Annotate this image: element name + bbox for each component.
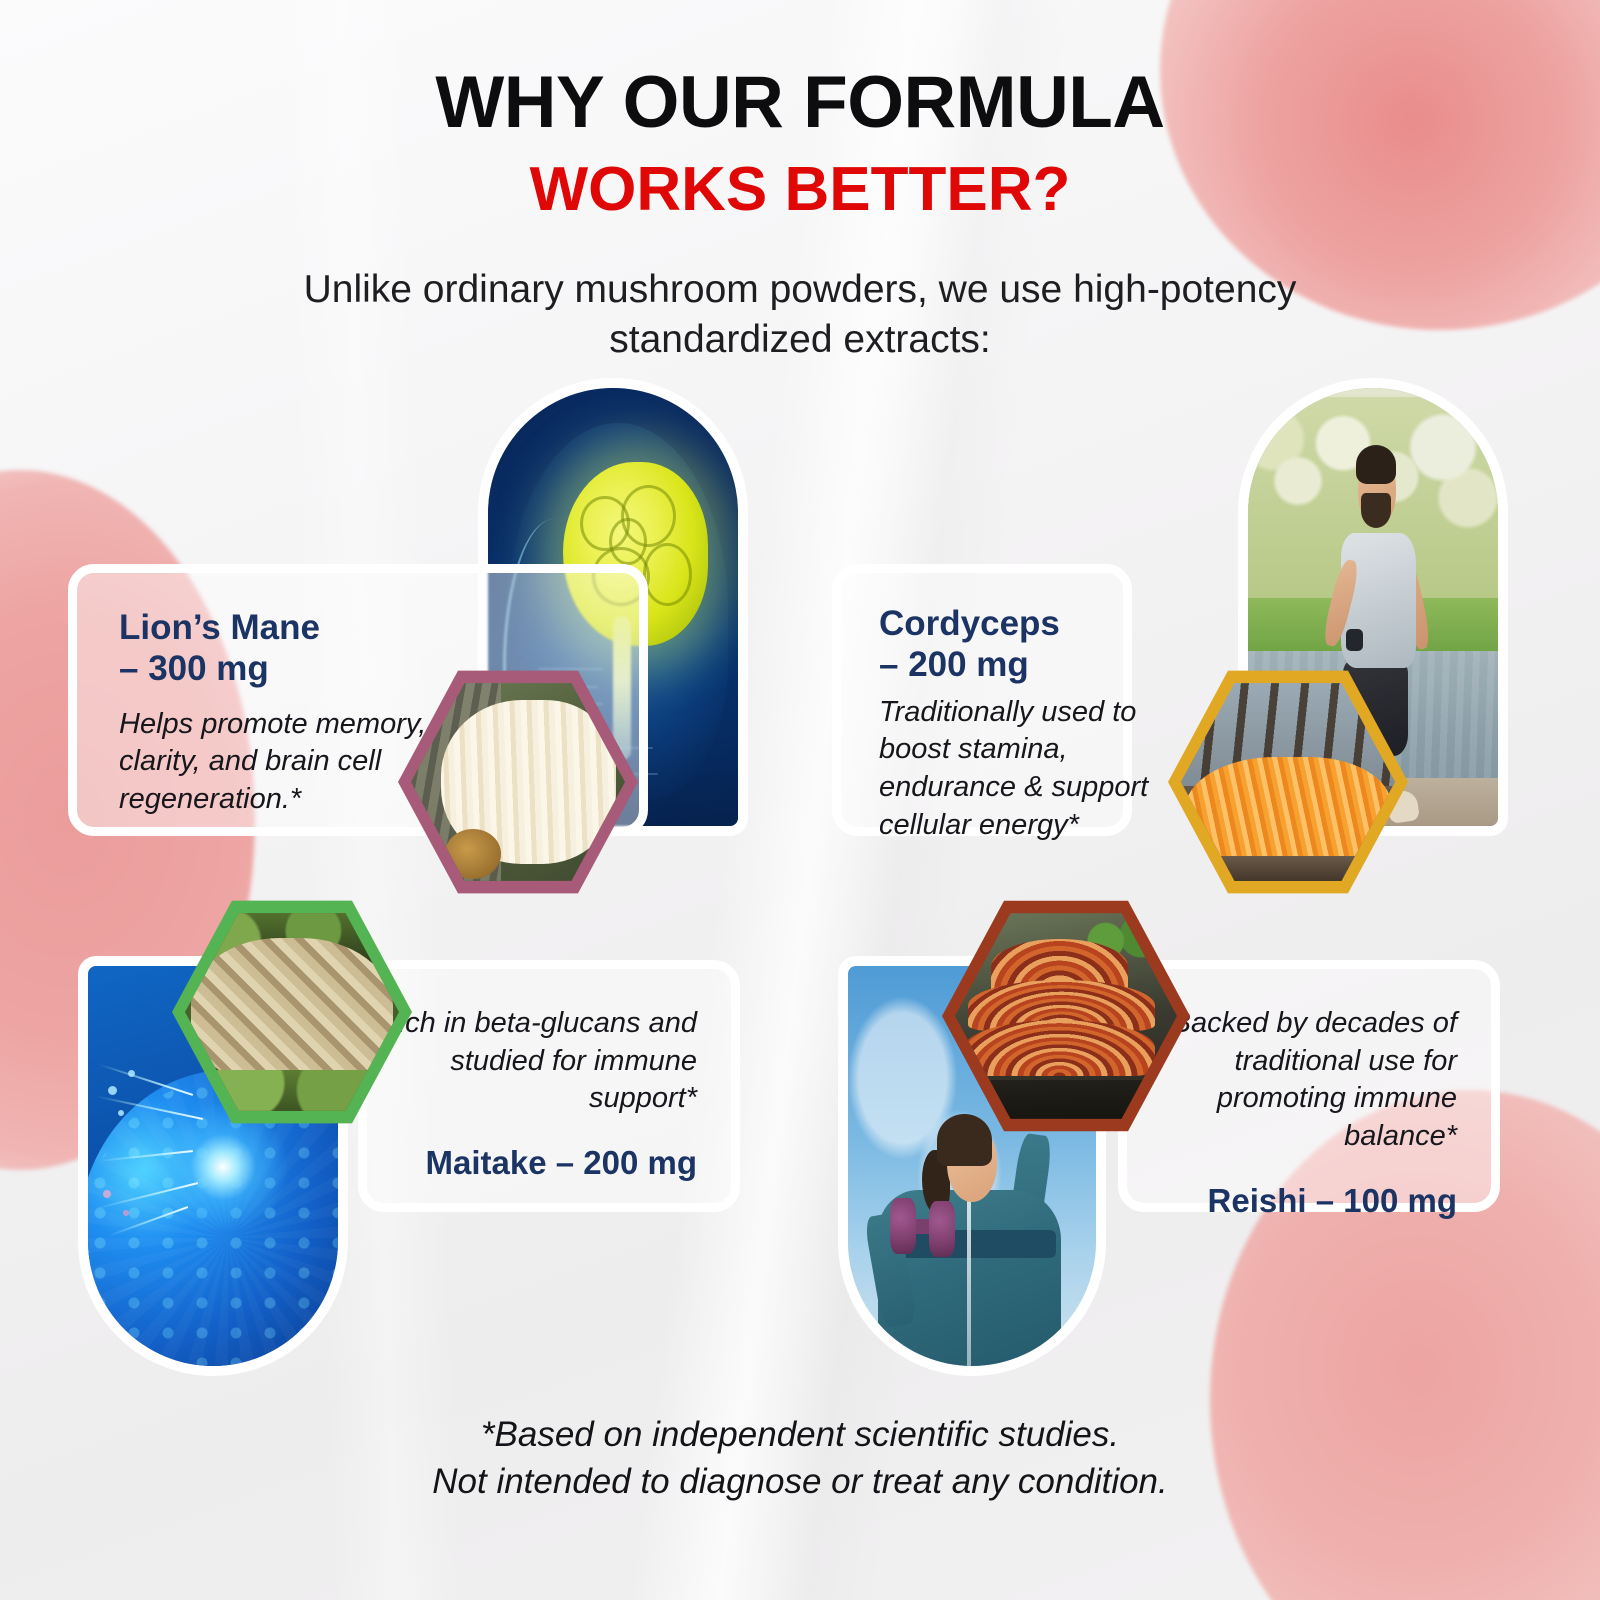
cordyceps-hexagon-photo	[1181, 679, 1395, 885]
cordyceps-description: Traditionally used to boost stamina, end…	[879, 694, 1199, 845]
subheadline-block: Unlike ordinary mushroom powders, we use…	[180, 265, 1420, 365]
reishi-title: Reishi – 100 mg	[1127, 1182, 1457, 1220]
subheadline-line-2: standardized extracts:	[180, 315, 1420, 365]
maitake-description: Rich in beta-glucans and studied for imm…	[367, 1005, 697, 1118]
cordyceps-title: Cordyceps – 200 mg	[879, 603, 1123, 686]
headline-line-2: WORKS BETTER?	[0, 159, 1600, 221]
cordyceps-card: Cordyceps – 200 mg Traditionally used to…	[832, 564, 1132, 836]
reishi-hexagon-photo	[955, 909, 1177, 1123]
subheadline-line-1: Unlike ordinary mushroom powders, we use…	[180, 265, 1420, 315]
maitake-hexagon-photo	[185, 909, 399, 1115]
infographic-page: WHY OUR FORMULA WORKS BETTER? Unlike ord…	[0, 0, 1600, 1600]
dumbbell-icon	[890, 1198, 954, 1254]
headline-line-1: WHY OUR FORMULA	[0, 66, 1600, 139]
headline-block: WHY OUR FORMULA WORKS BETTER?	[0, 0, 1600, 221]
lions-mane-description: Helps promote memory, clarity, and brain…	[119, 706, 439, 819]
maitake-card: Rich in beta-glucans and studied for imm…	[358, 960, 740, 1212]
maitake-hexagon	[172, 896, 412, 1128]
reishi-hexagon	[942, 896, 1190, 1136]
cordyceps-name: Cordyceps	[879, 603, 1123, 644]
lions-mane-name: Lion’s Mane	[119, 607, 639, 648]
cordyceps-hexagon	[1168, 666, 1408, 898]
ingredient-grid: Lion’s Mane – 300 mg Helps promote memor…	[0, 378, 1600, 1388]
cordyceps-dose: – 200 mg	[879, 644, 1123, 685]
footer-line-1: *Based on independent scientific studies…	[0, 1412, 1600, 1459]
maitake-title: Maitake – 200 mg	[367, 1144, 697, 1182]
lions-mane-hexagon-photo	[411, 679, 625, 885]
lions-mane-hexagon	[398, 666, 638, 898]
footer-line-2: Not intended to diagnose or treat any co…	[0, 1459, 1600, 1506]
footer-disclaimer: *Based on independent scientific studies…	[0, 1412, 1600, 1505]
